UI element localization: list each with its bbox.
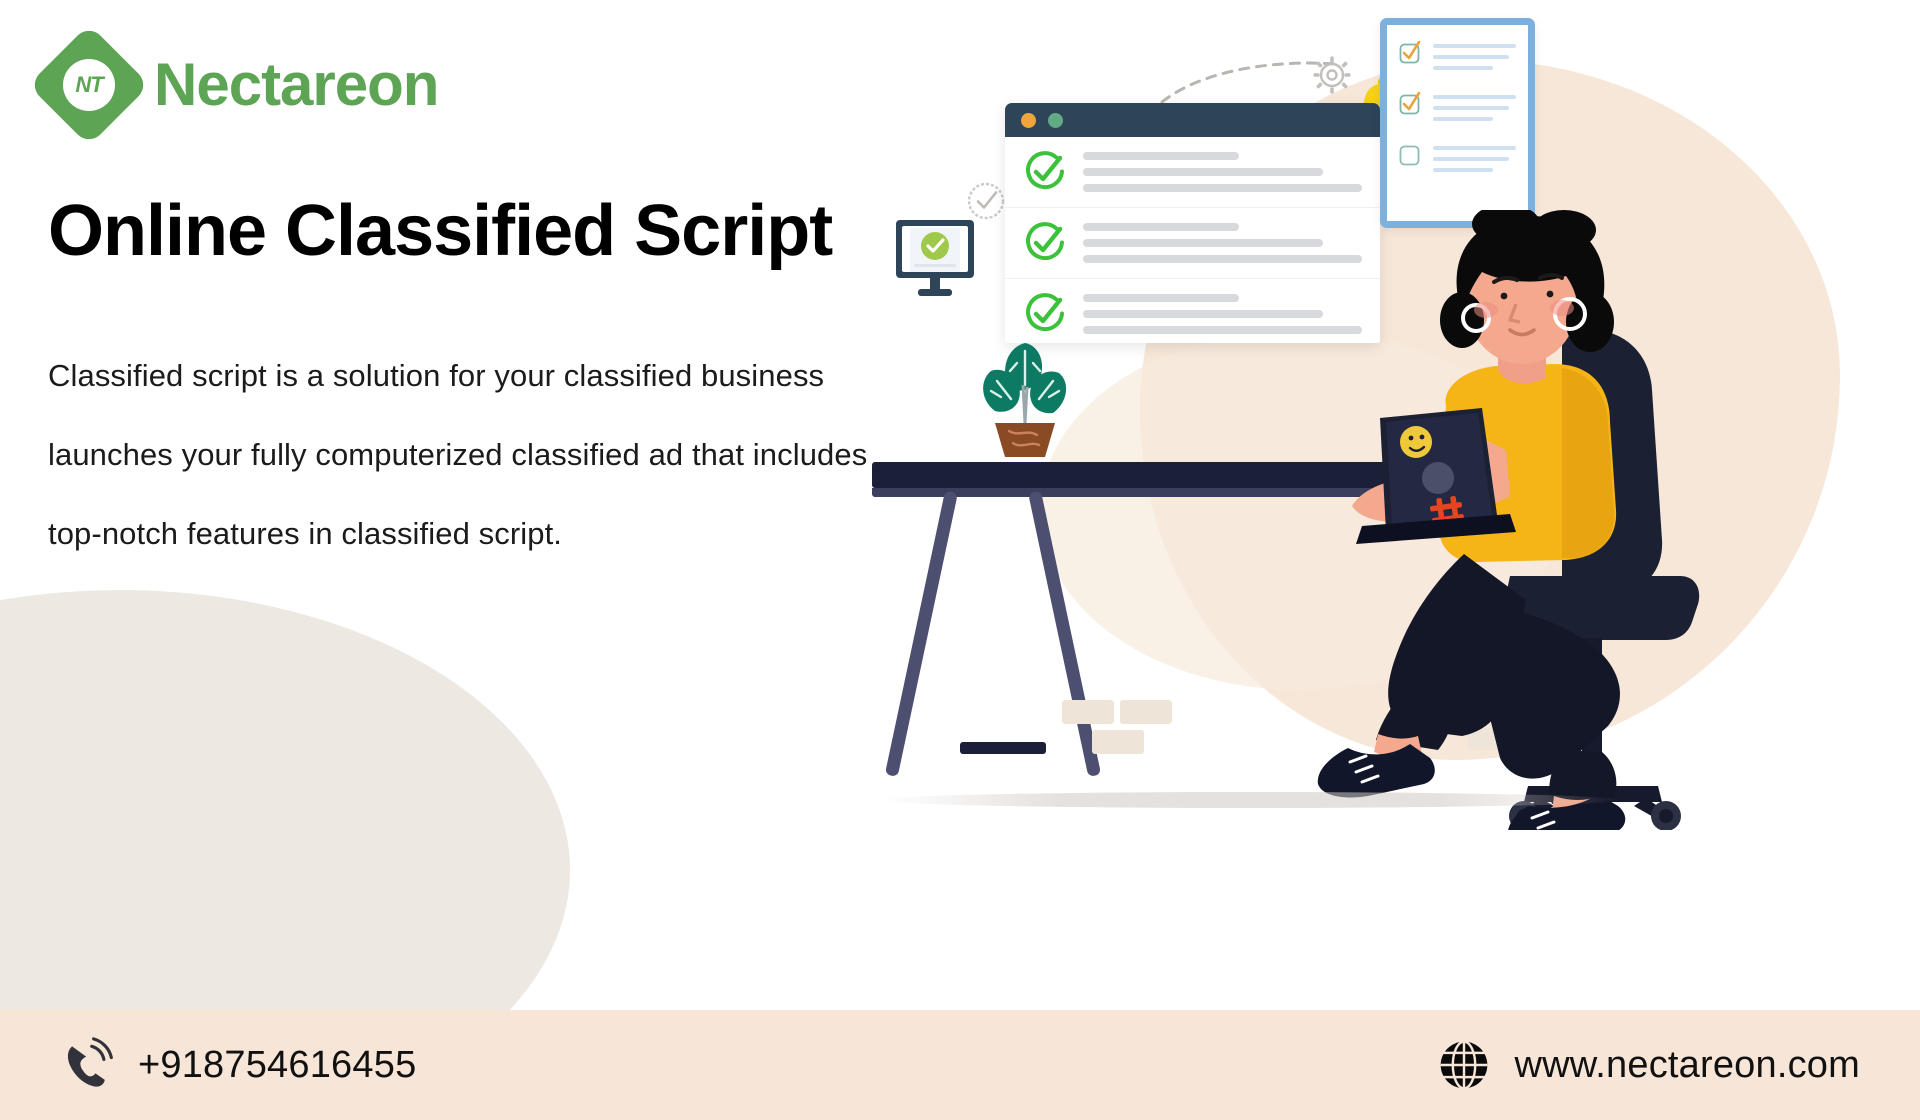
item-text-lines xyxy=(1433,41,1516,70)
monitor-check-icon xyxy=(890,212,980,302)
website-contact[interactable]: www.nectareon.com xyxy=(1436,1037,1860,1093)
green-check-circle-icon xyxy=(1023,150,1067,194)
row-text-lines xyxy=(1083,152,1362,192)
browser-titlebar xyxy=(1005,103,1380,137)
contact-footer: +918754616455 www.nectareon.com xyxy=(0,1010,1920,1120)
checkbox-checked-icon xyxy=(1399,92,1422,115)
website-url: www.nectareon.com xyxy=(1514,1044,1860,1087)
globe-icon xyxy=(1436,1037,1492,1093)
phone-ringing-icon xyxy=(60,1037,116,1093)
hero-illustration xyxy=(1040,0,1920,1010)
floor-tile xyxy=(1062,700,1114,724)
checkbox-empty-icon xyxy=(1399,143,1422,166)
item-text-lines xyxy=(1433,92,1516,121)
hero-description: Classified script is a solution for your… xyxy=(48,336,928,573)
phone-contact[interactable]: +918754616455 xyxy=(60,1037,416,1093)
green-check-circle-icon xyxy=(1023,221,1067,265)
potted-plant-icon xyxy=(965,325,1085,465)
checklist-item-unchecked[interactable] xyxy=(1399,143,1516,172)
desk-leg xyxy=(1028,491,1101,777)
desk-crossbar xyxy=(960,742,1046,754)
checklist-item-checked[interactable] xyxy=(1399,41,1516,70)
window-dot-orange[interactable] xyxy=(1021,113,1036,128)
phone-number: +918754616455 xyxy=(138,1044,416,1087)
brand-logo[interactable]: NT Nectareon xyxy=(46,42,438,128)
floor-shadow xyxy=(880,792,1620,808)
person-illustration xyxy=(1210,210,1830,830)
page-title: Online Classified Script xyxy=(48,192,832,271)
floor-tile xyxy=(1120,700,1172,724)
logo-diamond-icon: NT xyxy=(46,42,132,128)
logo-monogram: NT xyxy=(75,74,102,96)
floor-tile xyxy=(1092,730,1144,754)
checkbox-checked-icon xyxy=(1399,41,1422,64)
settings-gear-icon xyxy=(1312,55,1352,95)
checklist-row[interactable] xyxy=(1005,137,1380,208)
window-dot-green[interactable] xyxy=(1048,113,1063,128)
faint-check-circle-icon xyxy=(965,180,1007,222)
item-text-lines xyxy=(1433,143,1516,172)
checklist-card[interactable] xyxy=(1380,18,1535,228)
checklist-item-checked[interactable] xyxy=(1399,92,1516,121)
poster-canvas: NT Nectareon Online Classified Script Cl… xyxy=(0,0,1920,1120)
brand-name: Nectareon xyxy=(154,55,438,115)
